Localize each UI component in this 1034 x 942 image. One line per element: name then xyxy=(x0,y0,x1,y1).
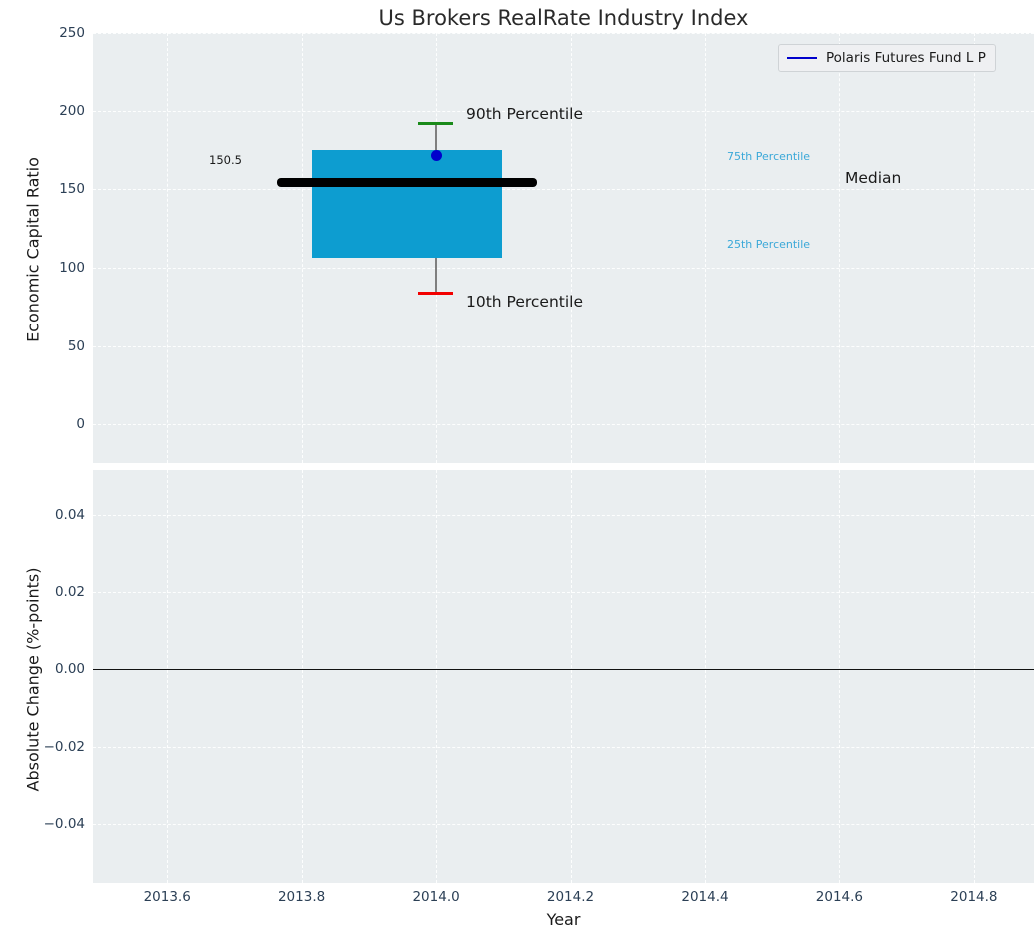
xtick-2013.8: 2013.8 xyxy=(278,889,325,905)
gridline-x-2014.8 xyxy=(974,33,975,463)
plot-panel-absolute-change xyxy=(93,470,1034,883)
gridline-y-50 xyxy=(93,346,1034,347)
ytick-neg-0.02: −0.02 xyxy=(44,739,85,755)
chart-title: Us Brokers RealRate Industry Index xyxy=(93,6,1034,30)
xtick-2014.0: 2014.0 xyxy=(412,889,459,905)
chart-legend[interactable]: Polaris Futures Fund L P xyxy=(778,44,996,72)
fund-marker-polaris-futures-fund-l-p xyxy=(431,150,442,161)
xtick-2014.6: 2014.6 xyxy=(816,889,863,905)
ytick-200: 200 xyxy=(59,103,85,119)
gridline-x-2014.2 xyxy=(571,470,572,883)
median-line xyxy=(277,178,537,187)
ytick-0: 0 xyxy=(76,416,85,432)
gridline-y-neg-0.02 xyxy=(93,747,1034,748)
plot-panel-economic-capital-ratio: 90th Percentile 75th Percentile Median 2… xyxy=(93,33,1034,463)
gridline-x-2014.0 xyxy=(436,470,437,883)
gridline-x-2013.8 xyxy=(302,33,303,463)
gridline-x-2014.8 xyxy=(974,470,975,883)
ytick-0.02: 0.02 xyxy=(55,584,85,600)
gridline-x-2014.4 xyxy=(705,470,706,883)
annotation-10th-percentile: 10th Percentile xyxy=(466,293,583,311)
ytick-50: 50 xyxy=(68,338,85,354)
y-axis-label-bottom: Absolute Change (%-points) xyxy=(24,540,43,820)
gridline-x-2014.6 xyxy=(839,33,840,463)
gridline-y-0.04 xyxy=(93,515,1034,516)
xtick-2013.6: 2013.6 xyxy=(144,889,191,905)
ytick-0.00: 0.00 xyxy=(55,661,85,677)
iqr-box xyxy=(312,150,502,258)
ytick-neg-0.04: −0.04 xyxy=(44,816,85,832)
whisker-cap-90th-percentile xyxy=(418,122,453,125)
annotation-median: Median xyxy=(845,169,901,187)
annotation-25th-percentile: 25th Percentile xyxy=(727,238,810,251)
annotation-75th-percentile: 75th Percentile xyxy=(727,150,810,163)
gridline-y-100 xyxy=(93,268,1034,269)
gridline-x-2014.6 xyxy=(839,470,840,883)
zero-reference-line xyxy=(93,669,1034,670)
legend-label: Polaris Futures Fund L P xyxy=(826,50,986,66)
xtick-2014.2: 2014.2 xyxy=(547,889,594,905)
gridline-x-2014.2 xyxy=(571,33,572,463)
gridline-x-2014.4 xyxy=(705,33,706,463)
gridline-y-0.02 xyxy=(93,592,1034,593)
whisker-cap-10th-percentile xyxy=(418,292,453,295)
y-axis-ticks-top: 250 200 150 100 50 0 xyxy=(0,33,85,463)
x-axis-label: Year xyxy=(93,910,1034,929)
gridline-y-250 xyxy=(93,33,1034,34)
chart-figure: Us Brokers RealRate Industry Index 90th … xyxy=(0,0,1034,942)
gridline-x-2013.6 xyxy=(167,470,168,883)
gridline-x-2013.8 xyxy=(302,470,303,883)
gridline-y-neg-0.04 xyxy=(93,824,1034,825)
ytick-250: 250 xyxy=(59,25,85,41)
gridline-y-150 xyxy=(93,189,1034,190)
xtick-2014.8: 2014.8 xyxy=(950,889,997,905)
y-axis-ticks-bottom: 0.04 0.02 0.00 −0.02 −0.04 xyxy=(0,470,85,883)
ytick-150: 150 xyxy=(59,181,85,197)
gridline-y-0 xyxy=(93,424,1034,425)
ytick-0.04: 0.04 xyxy=(55,507,85,523)
legend-line-swatch-icon xyxy=(787,57,817,59)
gridline-x-2013.6 xyxy=(167,33,168,463)
median-value-label: 150.5 xyxy=(209,153,242,167)
xtick-2014.4: 2014.4 xyxy=(681,889,728,905)
annotation-90th-percentile: 90th Percentile xyxy=(466,105,583,123)
ytick-100: 100 xyxy=(59,260,85,276)
y-axis-label-top: Economic Capital Ratio xyxy=(24,150,43,350)
